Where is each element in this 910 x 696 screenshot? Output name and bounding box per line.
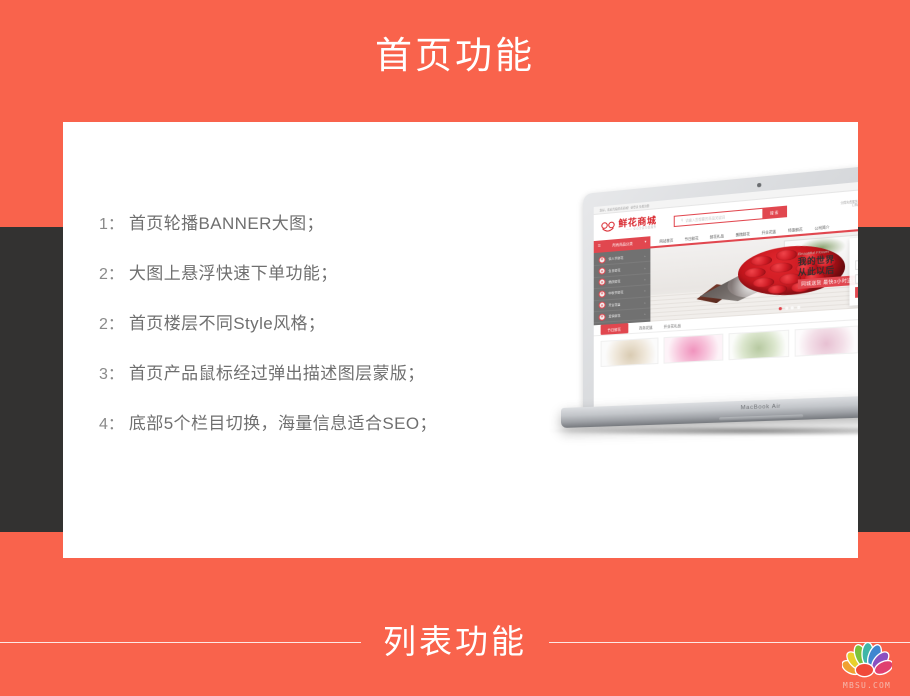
list-item-number: 2： <box>99 315 124 335</box>
chevron-right-icon: › <box>644 312 645 316</box>
search-placeholder: 请输入您想要的商品关键词 <box>685 214 725 223</box>
nav-link-home[interactable]: 网站首页 <box>659 237 673 243</box>
website-preview: 您好，欢迎光临鲜花商城！请登录 免费注册 我的订单 收藏夹 客服中心 <box>594 175 858 413</box>
site-logo[interactable]: 鲜花商城 —— 全心全意为您服务 <box>601 216 657 234</box>
peacock-fan-icon <box>842 640 892 680</box>
laptop-trackpad-notch <box>719 414 803 420</box>
list-item-number: 4： <box>99 415 124 435</box>
carousel-dot-2[interactable] <box>785 307 788 310</box>
list-item: 1： 首页轮播BANNER大图； <box>99 214 539 235</box>
sidebar-item-label: 婚庆鲜花 <box>608 279 620 284</box>
sidebar-item-love[interactable]: ❄ 爱情鲜花 › <box>594 308 651 323</box>
sidebar-item-label: 开业花篮 <box>608 302 620 307</box>
tab-festival-flowers[interactable]: 节日鲜花 <box>601 323 628 335</box>
chevron-right-icon: › <box>644 300 645 304</box>
watermark-text: MBSU.COM <box>843 681 891 690</box>
chevron-right-icon: › <box>644 277 645 281</box>
list-item-label: 首页轮播BANNER大图； <box>129 214 324 234</box>
product-card[interactable] <box>663 334 723 364</box>
list-item-number: 1： <box>99 215 124 235</box>
submit-order-button[interactable]: 免费预约订花 <box>855 282 858 298</box>
laptop-shadow <box>549 426 858 436</box>
chevron-right-icon: › <box>644 254 645 258</box>
search-input[interactable]: ⚲ 请输入您想要的商品关键词 <box>675 210 763 223</box>
laptop-lid: 您好，欢迎光临鲜花商城！请登录 免费注册 我的订单 收藏夹 客服中心 <box>583 158 858 422</box>
nav-link-gifts[interactable]: 鲜花礼品 <box>710 233 724 239</box>
site-search[interactable]: ⚲ 请输入您想要的商品关键词 搜 索 <box>674 205 787 226</box>
tab-opening-gifts[interactable]: 开业花礼品 <box>664 322 681 328</box>
search-icon: ⚲ <box>681 218 683 222</box>
page-title: 首页功能 <box>0 30 910 82</box>
menu-icon: ☰ <box>598 244 601 248</box>
chevron-down-icon: ▾ <box>645 240 647 244</box>
list-item: 2： 大图上悬浮快速下单功能； <box>99 264 539 285</box>
sidebar-item-label: 中秋节鲜花 <box>608 290 623 295</box>
carousel-dot-4[interactable] <box>797 306 800 309</box>
webcam-icon <box>757 183 761 188</box>
site-hotline: 全国免费服务热线 订购热线 400-899-1899 <box>841 193 858 212</box>
sidebar-item-label: 生日鲜花 <box>608 268 620 273</box>
carousel-dot-3[interactable] <box>791 306 794 309</box>
flower-logo-icon <box>601 220 616 234</box>
list-item-label: 首页楼层不同Style风格； <box>129 314 325 334</box>
product-card[interactable] <box>601 337 659 367</box>
quick-order-panel: 快速下单 专业客服为您快速解答鲜花预订之类问题 请输入您的称呼 <box>849 232 858 306</box>
list-item-number: 2： <box>99 265 124 285</box>
list-item-label: 底部5个栏目切换，海量信息适合SEO； <box>129 414 437 434</box>
site-sidebar: ❄ 情人节鲜花 › ❄ 生日鲜花 › ❄ <box>594 248 651 325</box>
sidebar-item-label: 情人节鲜花 <box>608 256 623 261</box>
flower-category-icon: ❄ <box>599 290 606 298</box>
nav-category-label: 所有商品分类 <box>612 240 632 247</box>
laptop-screen: 您好，欢迎光临鲜花商城！请登录 免费注册 我的订单 收藏夹 客服中心 <box>594 175 858 413</box>
nav-link-cake[interactable]: 蛋糕鲜花 <box>736 230 750 236</box>
flower-category-icon: ❄ <box>599 279 606 287</box>
product-card[interactable] <box>728 330 790 361</box>
slide-root: 首页功能 1： 首页轮播BANNER大图； 2： 大图上悬浮快速下单功能； 2：… <box>0 0 910 696</box>
nav-link-about[interactable]: 公司简介 <box>815 224 830 231</box>
product-card[interactable] <box>795 325 858 356</box>
chevron-right-icon: › <box>644 289 645 293</box>
list-item: 3： 首页产品鼠标经过弹出描述图层蒙版； <box>99 364 539 385</box>
phone-field[interactable]: 请输入手机号码 <box>855 269 858 284</box>
content-card: 1： 首页轮播BANNER大图； 2： 大图上悬浮快速下单功能； 2： 首页楼层… <box>63 122 858 558</box>
quick-order-title: 快速下单 <box>855 238 858 250</box>
feature-list: 1： 首页轮播BANNER大图； 2： 大图上悬浮快速下单功能； 2： 首页楼层… <box>99 214 539 464</box>
hotline-label: 全国免费服务热线 订购热线 <box>841 201 858 209</box>
section-title-text: 列表功能 <box>361 618 549 666</box>
name-field[interactable]: 请输入您的称呼 <box>855 255 858 270</box>
carousel-dot-1[interactable] <box>779 307 782 310</box>
title-rule-left <box>0 642 361 643</box>
flower-category-icon: ❄ <box>599 267 606 275</box>
nav-link-opening[interactable]: 开业花篮 <box>762 228 777 234</box>
list-item-label: 大图上悬浮快速下单功能； <box>129 264 338 284</box>
section-title-bottom: 列表功能 <box>0 618 910 666</box>
nav-link-special[interactable]: 特惠鲜花 <box>788 226 803 233</box>
list-item: 2： 首页楼层不同Style风格； <box>99 314 539 335</box>
nav-link-festival[interactable]: 节日鲜花 <box>685 235 699 241</box>
search-button[interactable]: 搜 索 <box>762 206 786 218</box>
watermark: MBSU.COM <box>836 632 898 690</box>
tab-business-baskets[interactable]: 商务花篮 <box>639 324 653 330</box>
chevron-right-icon: › <box>644 266 645 270</box>
site-logo-text: 鲜花商城 —— 全心全意为您服务 <box>618 216 656 232</box>
list-item-number: 3： <box>99 365 124 385</box>
laptop-mockup: 您好，欢迎光临鲜花商城！请登录 免费注册 我的订单 收藏夹 客服中心 <box>561 194 858 494</box>
list-item-label: 首页产品鼠标经过弹出描述图层蒙版； <box>129 364 425 384</box>
flower-category-icon: ❄ <box>599 256 606 264</box>
flower-category-icon: ❄ <box>599 313 606 320</box>
sidebar-item-label: 爱情鲜花 <box>608 314 620 319</box>
list-item: 4： 底部5个栏目切换，海量信息适合SEO； <box>99 414 539 435</box>
flower-category-icon: ❄ <box>599 302 606 310</box>
